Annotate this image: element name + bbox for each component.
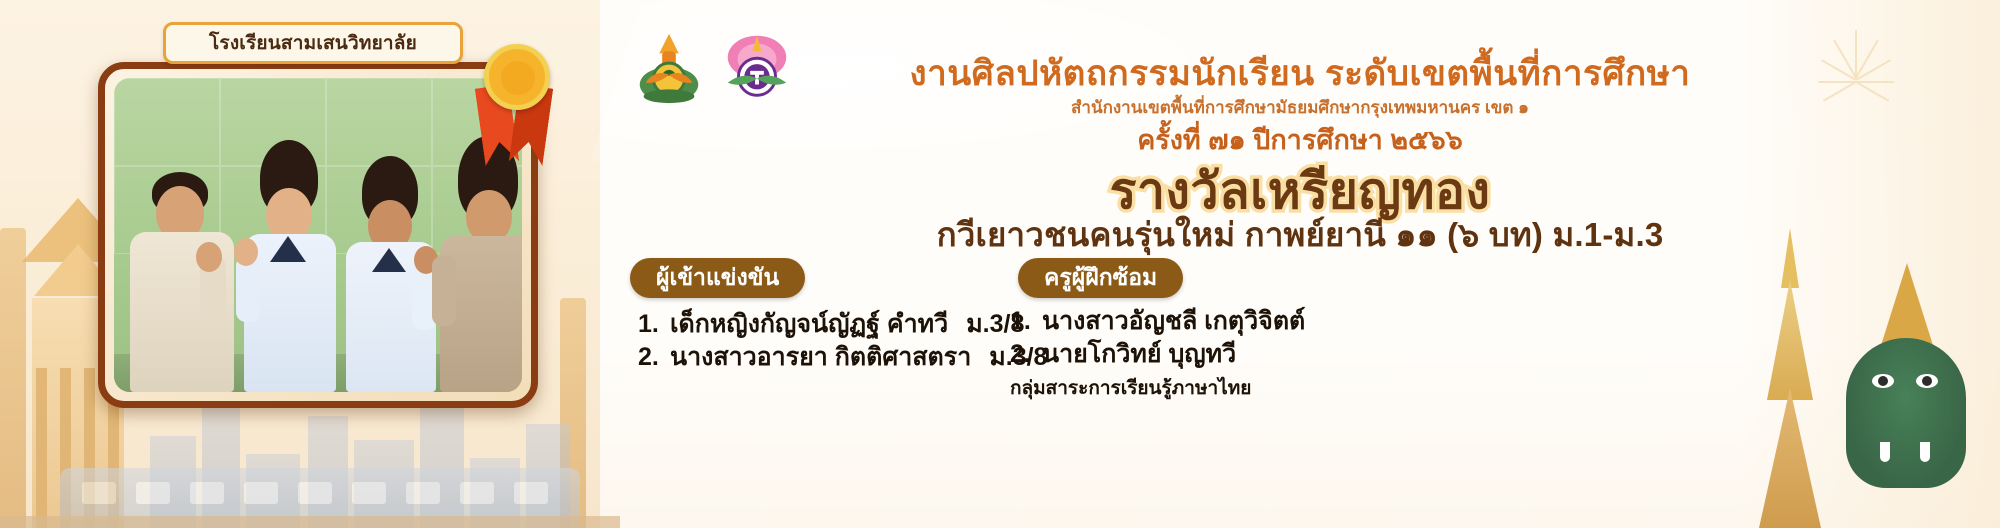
students-badge-label: ผู้เข้าแข่งขัน <box>656 260 779 296</box>
school-name-label: โรงเรียนสามเสนวิทยาลัย <box>209 28 417 58</box>
list-item: 2. นายโกวิทย์ บุญทวี <box>1010 338 1470 371</box>
event-header-subtitle: สำนักงานเขตพื้นที่การศึกษามัธยมศึกษากรุง… <box>750 94 1850 121</box>
track-line <box>0 516 620 528</box>
photo-person-1 <box>122 142 240 392</box>
student-name: เด็กหญิงกัญจน์ญัฏฐ์ คำทวี <box>670 308 948 341</box>
student-number: 2. <box>638 341 662 374</box>
event-header-title: งานศิลปหัตถกรรมนักเรียน ระดับเขตพื้นที่ก… <box>750 46 1850 101</box>
photo-person-3 <box>336 152 444 392</box>
teacher-department: กลุ่มสาระการเรียนรู้ภาษาไทย <box>1010 373 1470 403</box>
gold-medal-icon <box>478 44 556 164</box>
student-name: นางสาวอารยา กิตติศาสตรา <box>670 341 971 374</box>
photo-person-2 <box>234 142 344 392</box>
teacher-name: นายโกวิทย์ บุญทวี <box>1042 338 1236 371</box>
student-number: 1. <box>638 308 662 341</box>
teacher-name: นางสาวอัญชลี เกตุวิจิตต์ <box>1042 305 1305 338</box>
photo-person-4 <box>432 142 522 392</box>
team-photo <box>114 78 522 392</box>
competition-name: กวีเยาวชนคนรุ่นใหม่ กาพย์ยานี ๑๑ (๖ บท) … <box>680 208 1920 261</box>
garuda-emblem-icon <box>630 28 708 106</box>
students-badge: ผู้เข้าแข่งขัน <box>630 258 805 298</box>
teacher-number: 2. <box>1010 338 1034 371</box>
list-item: 1. นางสาวอัญชลี เกตุวิจิตต์ <box>1010 305 1470 338</box>
poster-content: งานศิลปหัตถกรรมนักเรียน ระดับเขตพื้นที่ก… <box>620 0 2000 528</box>
teacher-number: 1. <box>1010 305 1034 338</box>
teachers-badge-label: ครูผู้ฝึกซ้อม <box>1044 260 1157 296</box>
poster-canvas: โรงเรียนสามเสนวิทยาลัย <box>0 0 2000 528</box>
teachers-badge: ครูผู้ฝึกซ้อม <box>1018 258 1183 298</box>
team-photo-frame <box>98 62 538 408</box>
pillar-left <box>0 228 26 528</box>
school-name-tag: โรงเรียนสามเสนวิทยาลัย <box>163 22 463 64</box>
teachers-list: 1. นางสาวอัญชลี เกตุวิจิตต์ 2. นายโกวิทย… <box>1010 305 1470 403</box>
